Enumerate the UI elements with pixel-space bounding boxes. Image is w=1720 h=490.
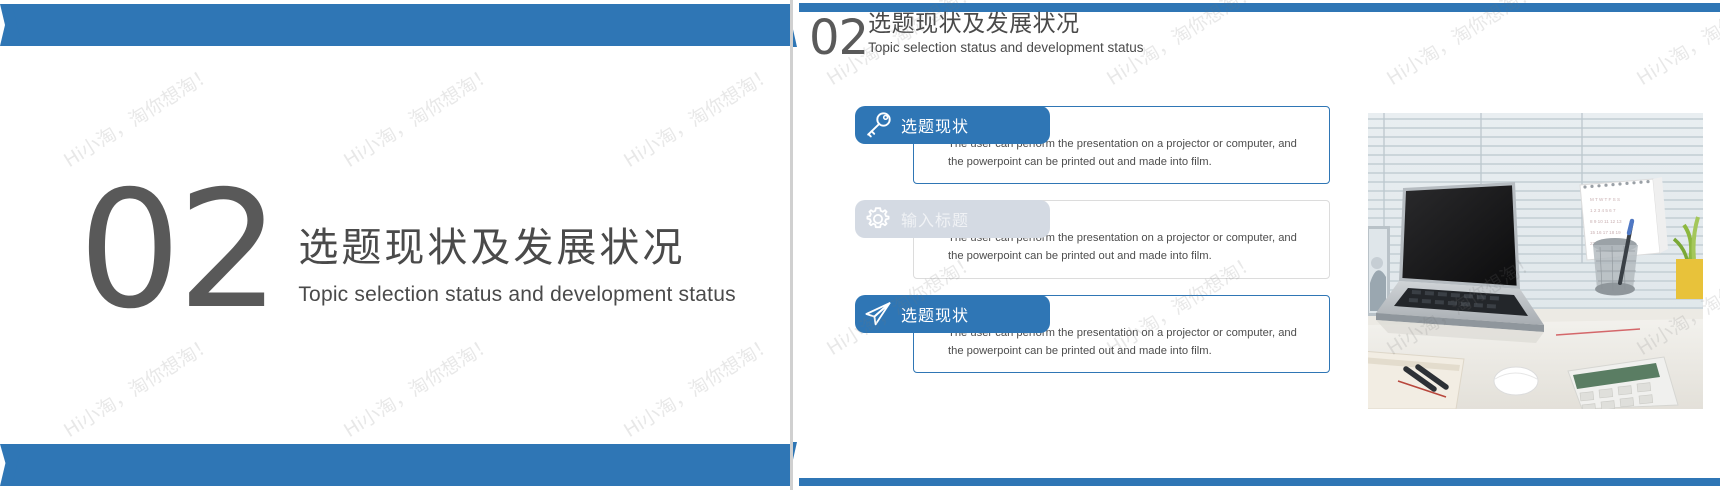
key-icon bbox=[855, 112, 901, 138]
content-slide: 02 选题现状及发展状况 Topic selection status and … bbox=[790, 0, 1720, 490]
slide-deck: 02 选题现状及发展状况 Topic selection status and … bbox=[0, 0, 1720, 490]
section-number: 02 bbox=[78, 183, 276, 319]
bottom-left-corner-shape bbox=[790, 442, 797, 486]
section-title-cn: 选题现状及发展状况 bbox=[298, 225, 735, 271]
card-header-tab[interactable]: 输入标题 bbox=[855, 200, 1050, 238]
section-divider-slide: 02 选题现状及发展状况 Topic selection status and … bbox=[0, 0, 790, 490]
header-number: 02 bbox=[809, 14, 868, 62]
svg-text:8 9 10 11 12 13: 8 9 10 11 12 13 bbox=[1590, 219, 1622, 224]
header-title-en: Topic selection status and development s… bbox=[868, 40, 1143, 56]
card-title: 选题现状 bbox=[901, 113, 969, 137]
content-card[interactable]: The user can perform the presentation on… bbox=[855, 106, 1330, 184]
watermark-text: Hi小淘，淘你想淘！ bbox=[1381, 0, 1541, 91]
slide-header: 02 选题现状及发展状况 Topic selection status and … bbox=[809, 10, 1144, 62]
slide-bottom-blue-bar bbox=[799, 478, 1720, 486]
paper-plane-icon bbox=[855, 301, 901, 327]
watermark-text: Hi小淘，淘你想淘！ bbox=[1631, 0, 1720, 91]
card-title: 选题现状 bbox=[901, 302, 969, 326]
card-header-tab[interactable]: 选题现状 bbox=[855, 295, 1050, 333]
divider-content: 02 选题现状及发展状况 Topic selection status and … bbox=[0, 0, 790, 490]
content-card[interactable]: The user can perform the presentation on… bbox=[855, 200, 1330, 278]
gear-icon bbox=[855, 205, 901, 233]
header-title-cn: 选题现状及发展状况 bbox=[868, 10, 1143, 38]
section-title-en: Topic selection status and development s… bbox=[298, 283, 735, 307]
card-title: 输入标题 bbox=[901, 207, 969, 231]
card-list: The user can perform the presentation on… bbox=[855, 106, 1330, 389]
top-left-corner-shape bbox=[790, 3, 797, 47]
svg-text:1 2 3 4 5 6 7: 1 2 3 4 5 6 7 bbox=[1590, 208, 1616, 213]
content-card[interactable]: The user can perform the presentation on… bbox=[855, 295, 1330, 373]
laptop-on-desk-photo: M T W T F S S 1 2 3 4 5 6 7 8 9 10 11 12… bbox=[1368, 113, 1703, 409]
svg-text:M T W T F S S: M T W T F S S bbox=[1590, 197, 1620, 202]
card-header-tab[interactable]: 选题现状 bbox=[855, 106, 1050, 144]
svg-text:15 16 17 18 19: 15 16 17 18 19 bbox=[1590, 230, 1621, 235]
